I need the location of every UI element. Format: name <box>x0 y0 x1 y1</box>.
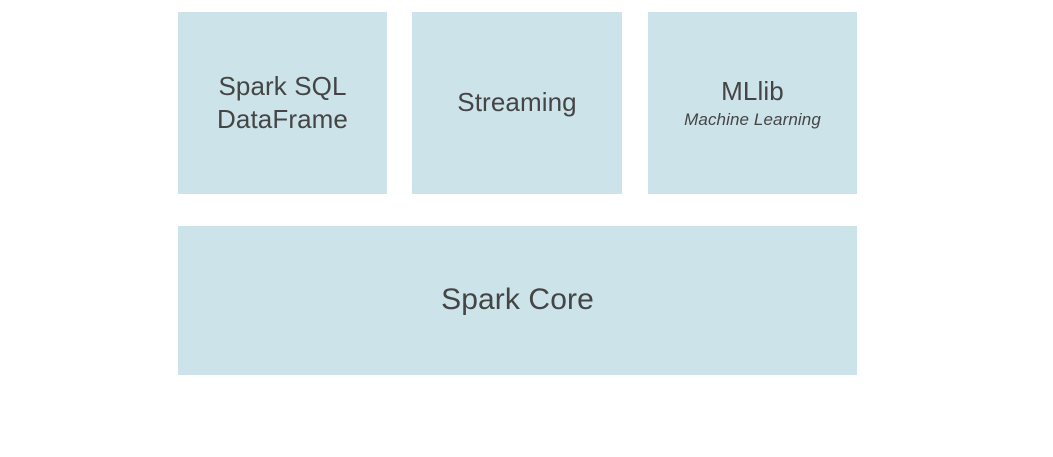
spark-sql-title-line2: DataFrame <box>217 103 348 136</box>
spark-sql-title-line1: Spark SQL <box>218 70 346 103</box>
spark-core-title: Spark Core <box>441 281 594 319</box>
component-box-spark-sql[interactable]: Spark SQL DataFrame <box>178 12 387 194</box>
streaming-title: Streaming <box>457 86 576 119</box>
component-box-streaming[interactable]: Streaming <box>412 12 622 194</box>
component-box-spark-core[interactable]: Spark Core <box>178 226 857 375</box>
component-box-mllib[interactable]: MLlib Machine Learning <box>648 12 857 194</box>
mllib-subtitle: Machine Learning <box>684 109 821 131</box>
diagram-canvas: Spark SQL DataFrame Streaming MLlib Mach… <box>0 0 1053 457</box>
mllib-title: MLlib <box>721 75 784 108</box>
